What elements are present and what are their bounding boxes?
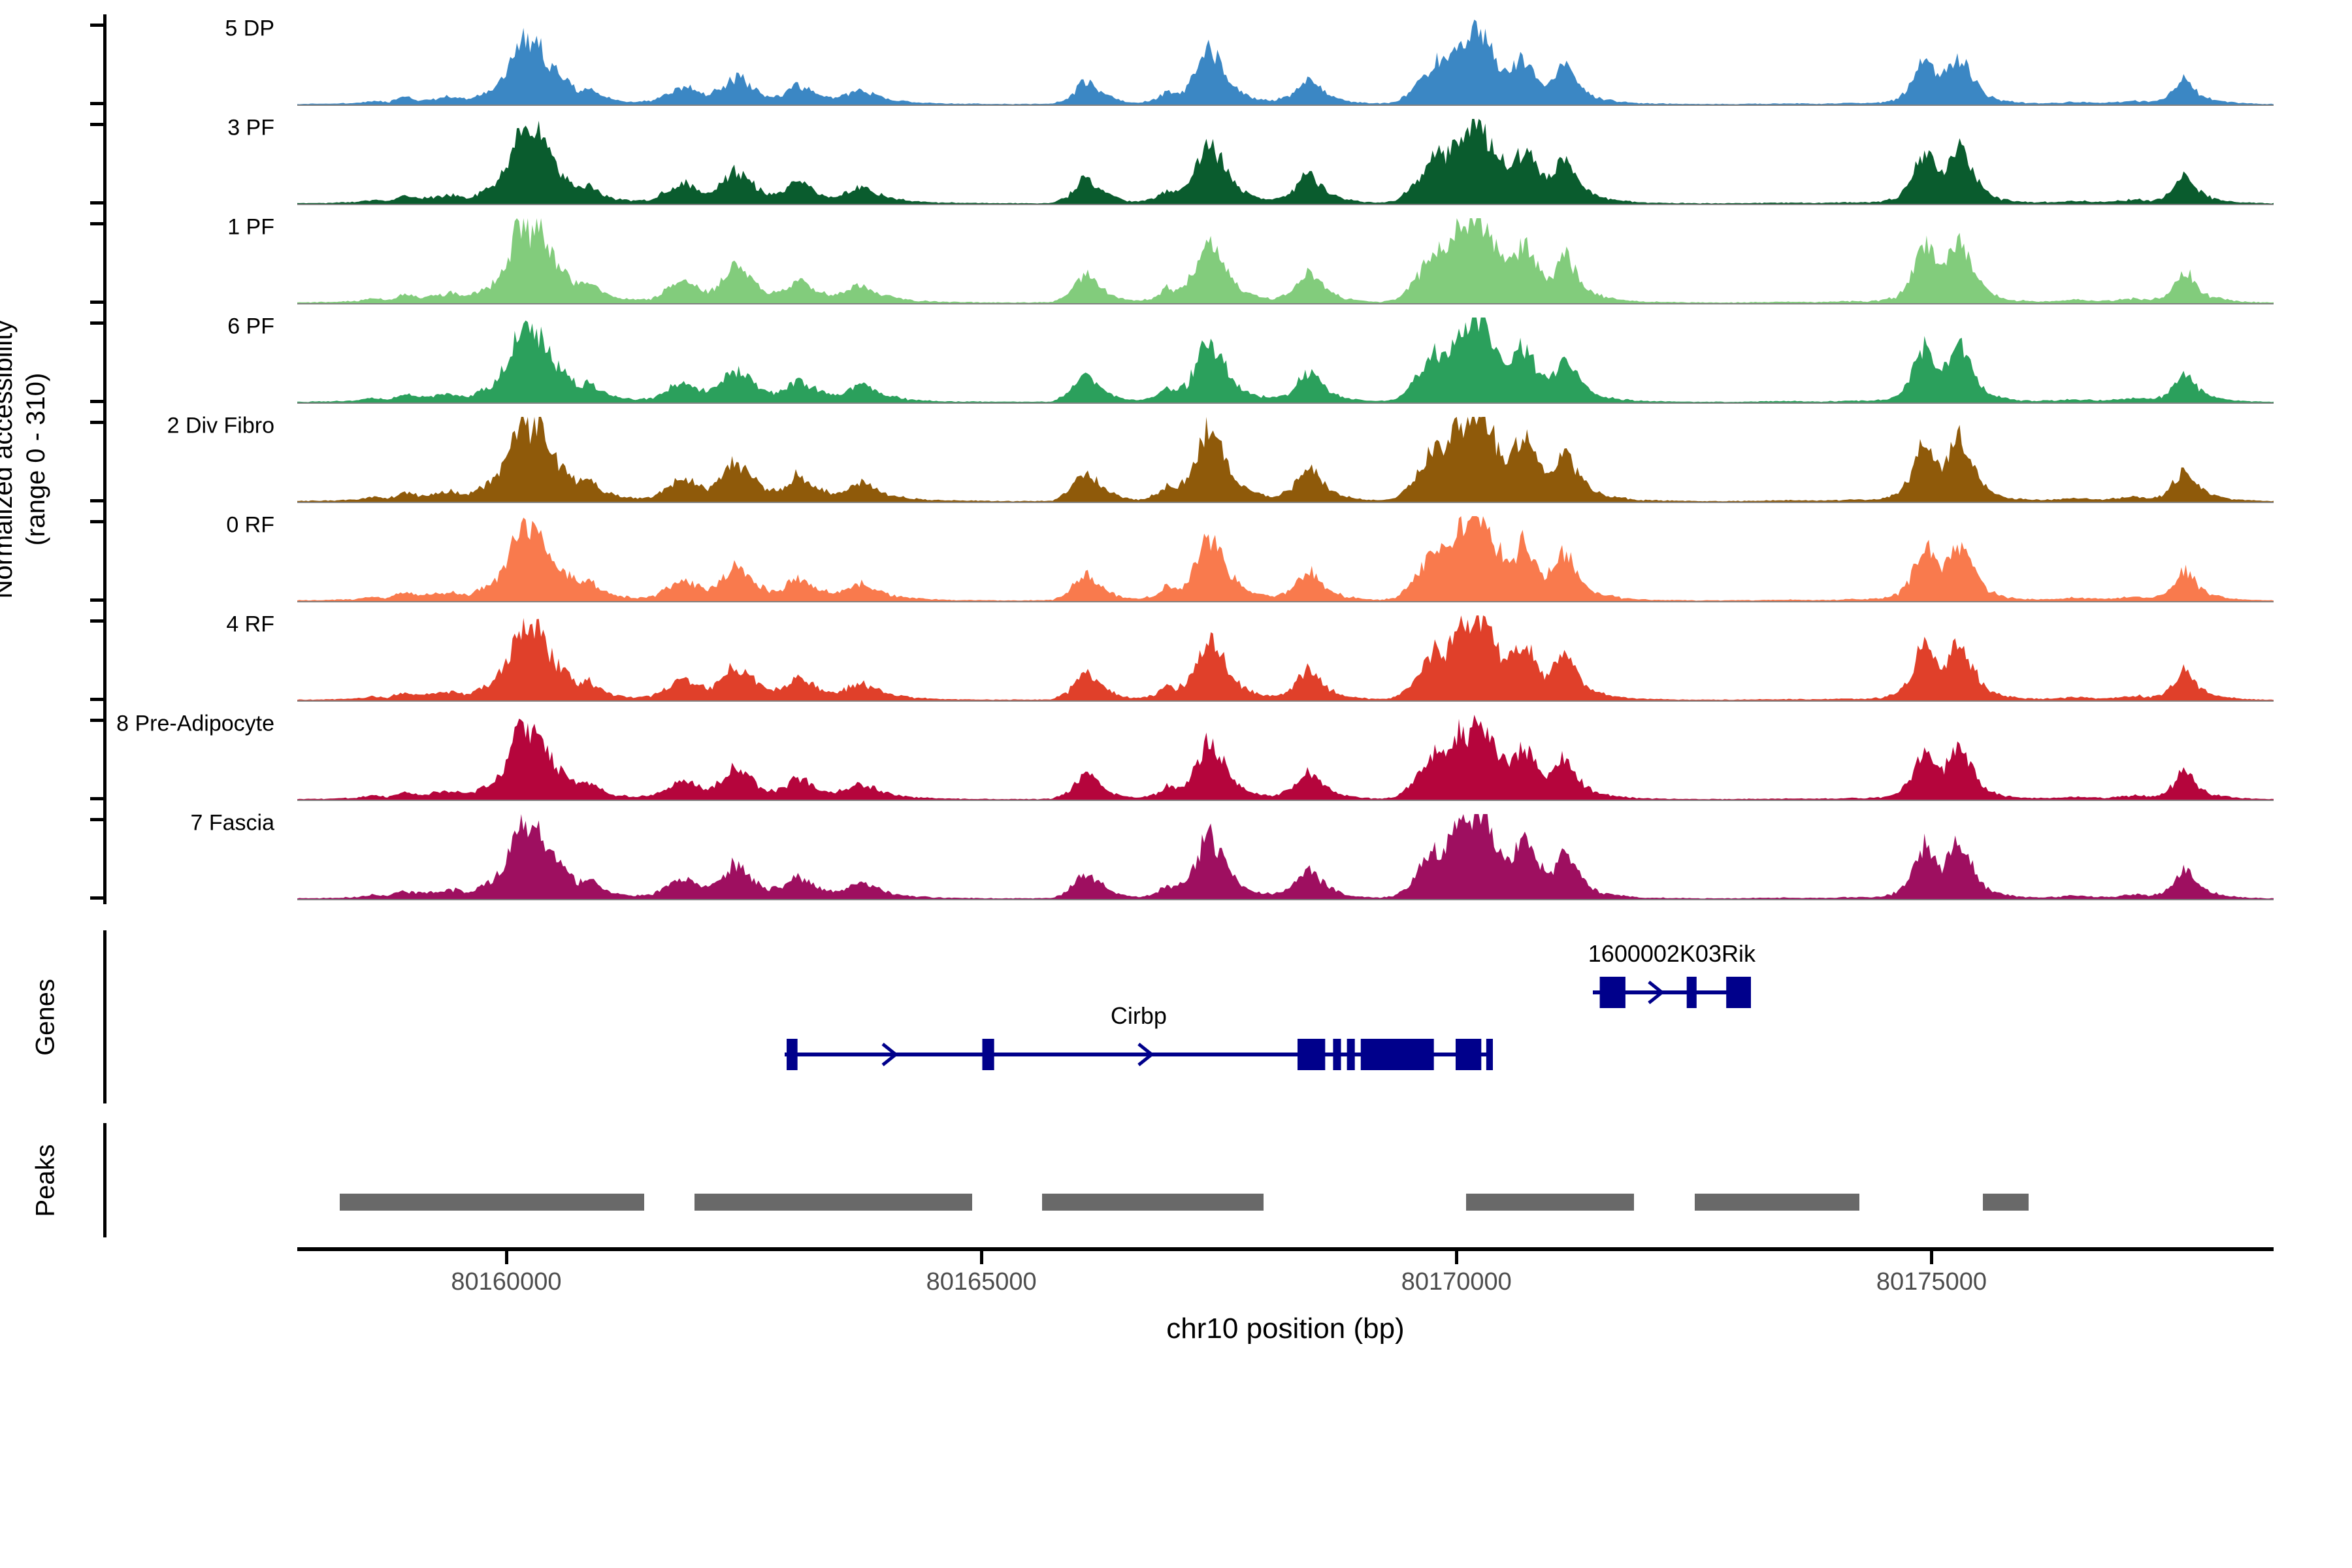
x-axis-tick bbox=[1455, 1251, 1458, 1264]
y-axis-tick bbox=[90, 201, 103, 204]
y-axis-tick bbox=[90, 499, 103, 502]
signal-area bbox=[297, 814, 2274, 899]
signal-area bbox=[297, 20, 2274, 105]
y-axis-title: Normalized accessibility (range 0 - 310) bbox=[0, 320, 52, 599]
track-label-7-fascia: 7 Fascia bbox=[191, 811, 275, 836]
y-axis-tick bbox=[90, 321, 103, 325]
gene-exon bbox=[787, 1039, 798, 1070]
y-axis-tick bbox=[90, 123, 103, 126]
peak-region[interactable] bbox=[340, 1194, 644, 1211]
genes-axis-spine bbox=[103, 930, 106, 1103]
x-axis-title: chr10 position (bp) bbox=[1166, 1313, 1404, 1345]
y-axis-tick bbox=[90, 24, 103, 27]
track-baseline bbox=[297, 800, 2274, 801]
x-axis-tick bbox=[980, 1251, 983, 1264]
signal-track-2-div-fibro bbox=[297, 417, 2274, 502]
track-baseline bbox=[297, 402, 2274, 404]
y-axis-tick bbox=[90, 818, 103, 821]
y-axis-title-line1: Normalized accessibility bbox=[0, 320, 18, 599]
x-axis-tick bbox=[505, 1251, 508, 1264]
gene-exon bbox=[1486, 1039, 1494, 1070]
gene-name-1600002k03rik: 1600002K03Rik bbox=[1588, 940, 1756, 968]
track-baseline bbox=[297, 204, 2274, 205]
gene-model-cirbp[interactable] bbox=[785, 1036, 1493, 1073]
gene-exon bbox=[1687, 977, 1697, 1008]
track-baseline bbox=[297, 105, 2274, 106]
gene-exon bbox=[1333, 1039, 1341, 1070]
track-baseline bbox=[297, 601, 2274, 602]
gene-model-1600002k03rik[interactable] bbox=[1593, 974, 1751, 1011]
y-axis-tick bbox=[90, 896, 103, 900]
y-axis-tick bbox=[90, 598, 103, 602]
y-axis-tick bbox=[90, 797, 103, 800]
gene-exon bbox=[1599, 977, 1625, 1008]
peaks-axis-spine bbox=[103, 1123, 106, 1237]
track-label-4-rf: 4 RF bbox=[226, 612, 274, 638]
y-axis-spine bbox=[103, 14, 106, 904]
signal-track-1-pf bbox=[297, 218, 2274, 303]
track-baseline bbox=[297, 502, 2274, 503]
gene-exon bbox=[1360, 1039, 1433, 1070]
signal-track-0-rf bbox=[297, 516, 2274, 601]
y-axis-tick bbox=[90, 421, 103, 424]
peak-region[interactable] bbox=[1466, 1194, 1634, 1211]
gene-exon bbox=[1726, 977, 1751, 1008]
gene-exon bbox=[1347, 1039, 1354, 1070]
x-axis-tick-label: 80160000 bbox=[451, 1268, 561, 1296]
y-axis-tick bbox=[90, 698, 103, 701]
track-label-5-dp: 5 DP bbox=[225, 16, 274, 42]
track-baseline bbox=[297, 899, 2274, 900]
track-label-6-pf: 6 PF bbox=[227, 314, 274, 340]
genome-browser-figure: Normalized accessibility (range 0 - 310)… bbox=[0, 0, 2352, 1568]
track-label-8-pre-adipocyte: 8 Pre-Adipocyte bbox=[116, 711, 274, 737]
y-axis-tick bbox=[90, 400, 103, 403]
gene-exon bbox=[1456, 1039, 1481, 1070]
y-axis-tick bbox=[90, 520, 103, 523]
signal-area bbox=[297, 218, 2274, 303]
signal-track-6-pf bbox=[297, 318, 2274, 402]
track-baseline bbox=[297, 700, 2274, 702]
signal-track-3-pf bbox=[297, 119, 2274, 204]
gene-exon bbox=[982, 1039, 994, 1070]
x-axis-tick-label: 80175000 bbox=[1876, 1268, 1987, 1296]
peaks-section-label: Peaks bbox=[31, 1144, 61, 1217]
y-axis-tick bbox=[90, 719, 103, 722]
track-label-3-pf: 3 PF bbox=[227, 116, 274, 141]
peak-region[interactable] bbox=[1983, 1194, 2029, 1211]
signal-track-4-rf bbox=[297, 615, 2274, 700]
peak-region[interactable] bbox=[1695, 1194, 1860, 1211]
track-label-2-div-fibro: 2 Div Fibro bbox=[167, 414, 274, 439]
x-axis-spine bbox=[297, 1247, 2274, 1251]
y-axis-tick bbox=[90, 619, 103, 623]
x-axis-tick-label: 80170000 bbox=[1401, 1268, 1512, 1296]
y-axis-title-line2: (range 0 - 310) bbox=[22, 373, 50, 546]
signal-area bbox=[297, 119, 2274, 204]
y-axis-tick bbox=[90, 301, 103, 304]
track-label-1-pf: 1 PF bbox=[227, 215, 274, 240]
gene-name-cirbp: Cirbp bbox=[1111, 1002, 1167, 1030]
signal-area bbox=[297, 516, 2274, 601]
x-axis-tick bbox=[1930, 1251, 1933, 1264]
signal-area bbox=[297, 318, 2274, 402]
peak-region[interactable] bbox=[694, 1194, 972, 1211]
peak-region[interactable] bbox=[1042, 1194, 1264, 1211]
signal-area bbox=[297, 615, 2274, 700]
signal-track-5-dp bbox=[297, 20, 2274, 105]
y-axis-tick bbox=[90, 102, 103, 105]
signal-area bbox=[297, 715, 2274, 800]
signal-track-8-pre-adipocyte bbox=[297, 715, 2274, 800]
y-axis-tick bbox=[90, 222, 103, 225]
x-axis-tick-label: 80165000 bbox=[926, 1268, 1037, 1296]
signal-track-7-fascia bbox=[297, 814, 2274, 899]
signal-area bbox=[297, 417, 2274, 502]
gene-exon bbox=[1298, 1039, 1325, 1070]
track-label-0-rf: 0 RF bbox=[226, 513, 274, 538]
track-baseline bbox=[297, 303, 2274, 304]
genes-section-label: Genes bbox=[31, 979, 61, 1056]
